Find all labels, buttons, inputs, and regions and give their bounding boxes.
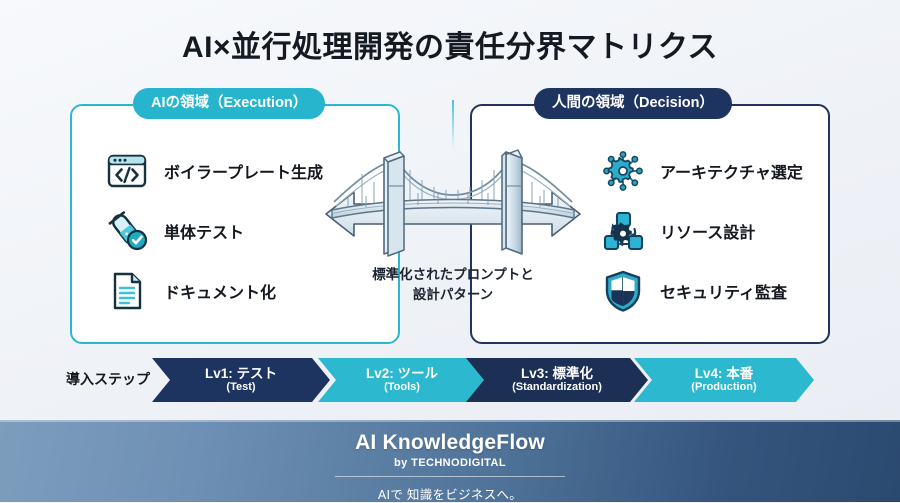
list-item-unit-test: 単体テスト [104,208,244,254]
step-label-ja: Lv2: ツール [366,366,438,381]
page-title: AI×並行処理開発の責任分界マトリクス [0,22,900,66]
resource-cycle-icon [600,208,646,254]
footer-brand: AI KnowledgeFlow [0,431,900,455]
infographic-canvas: AI×並行処理開発の責任分界マトリクス AIの領域（Execution） ボイラ… [0,0,900,502]
list-item-architecture: アーキテクチャ選定 [600,148,803,194]
badge-human-domain: 人間の領域（Decision） [534,88,732,119]
code-window-icon [104,148,150,194]
bridge-caption-line2: 設計パターン [330,285,576,305]
list-item-security-audit: セキュリティ監査 [600,268,787,314]
test-tube-check-icon [104,208,150,254]
list-item-label: セキュリティ監査 [660,279,787,303]
step-label-en: (Tools) [384,381,420,394]
footer-tagline: AIで 知識をビジネスへ。 [0,484,900,503]
step-label-ja: Lv4: 本番 [695,366,754,381]
step-chevron-lv1[interactable]: Lv1: テスト (Test) [152,358,330,402]
document-icon [104,268,150,314]
list-item-label: リソース設計 [660,219,755,243]
shield-icon [600,268,646,314]
step-label-en: (Test) [226,381,255,394]
step-chevron-lv4[interactable]: Lv4: 本番 (Production) [634,358,814,402]
list-item-label: アーキテクチャ選定 [660,159,803,183]
step-label-ja: Lv3: 標準化 [521,366,593,381]
list-item-label: ドキュメント化 [164,279,276,303]
suspension-bridge-icon [318,140,588,275]
list-item-label: 単体テスト [164,219,244,243]
list-item-boilerplate: ボイラープレート生成 [104,148,323,194]
list-item-resource-design: リソース設計 [600,208,755,254]
step-label-ja: Lv1: テスト [205,366,277,381]
footer-bar: AI KnowledgeFlow by TECHNODIGITAL AIで 知識… [0,420,900,502]
badge-ai-domain: AIの領域（Execution） [133,88,325,119]
footer-divider [335,476,565,477]
step-label-en: (Production) [691,381,756,394]
step-chevron-lv3[interactable]: Lv3: 標準化 (Standardization) [466,358,648,402]
steps-label: 導入ステップ [66,369,150,389]
list-item-label: ボイラープレート生成 [164,159,323,183]
step-label-en: (Standardization) [512,381,602,394]
step-chevron-lv2[interactable]: Lv2: ツール (Tools) [318,358,486,402]
gear-network-icon [600,148,646,194]
list-item-documentation: ドキュメント化 [104,268,276,314]
footer-byline: by TECHNODIGITAL [0,457,900,469]
